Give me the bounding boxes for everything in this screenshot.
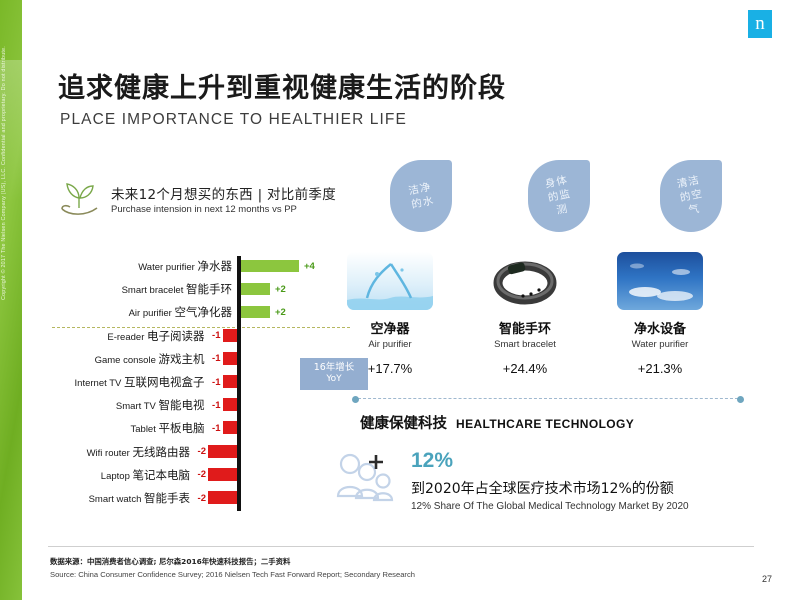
chart-bar-negative bbox=[223, 329, 238, 342]
chart-value-label: +2 bbox=[275, 307, 286, 318]
chart-value-label: +2 bbox=[275, 284, 286, 295]
chart-row-label: Smart watch 智能手表 bbox=[89, 490, 190, 506]
chart-row: Smart bracelet 智能手环+2 bbox=[50, 279, 350, 299]
divider-dot-right bbox=[737, 396, 744, 403]
smart-bracelet-graphic bbox=[482, 252, 568, 310]
copyright-notice: Copyright © 2017 The Nielsen Company (US… bbox=[1, 46, 7, 300]
product-card-water-purifier: 净水设备 Water purifier +21.3% bbox=[590, 252, 730, 376]
divider-dot-left bbox=[352, 396, 359, 403]
water-splash-image bbox=[347, 252, 433, 310]
chart-row: Laptop 笔记本电脑-2 bbox=[50, 465, 350, 485]
product-growth-pct: +21.3% bbox=[590, 361, 730, 376]
chart-row-label: Internet TV 互联网电视盒子 bbox=[75, 374, 205, 390]
product-card-air-purifier: 空净器 Air purifier +17.7% bbox=[320, 252, 460, 376]
chart-row: Smart TV 智能电视-1 bbox=[50, 395, 350, 415]
drop-clean-water-label: 洁净的水 bbox=[407, 180, 435, 213]
product-name-cn: 智能手环 bbox=[455, 318, 595, 337]
healthcare-heading: 健康保健科技 HEALTHCARE TECHNOLOGY bbox=[360, 412, 634, 433]
chart-value-label: +4 bbox=[304, 261, 315, 272]
product-growth-pct: +24.4% bbox=[455, 361, 595, 376]
chart-row-label: Air purifier 空气净化器 bbox=[129, 304, 232, 320]
page-title-en: PLACE IMPORTANCE TO HEALTHIER LIFE bbox=[60, 111, 407, 129]
chart-header-en: Purchase intension in next 12 months vs … bbox=[111, 204, 336, 215]
chart-bar-negative bbox=[208, 491, 237, 504]
chart-row-label: Wifi router 无线路由器 bbox=[87, 444, 190, 460]
chart-value-label: -1 bbox=[212, 400, 220, 411]
chart-header-cn: 未来12个月想买的东西 | 对比前季度 bbox=[111, 183, 336, 203]
chart-value-label: -2 bbox=[198, 469, 206, 480]
chart-value-label: -1 bbox=[212, 353, 220, 364]
nielsen-logo: n bbox=[748, 10, 772, 38]
footer-rule bbox=[48, 546, 754, 547]
page-title-cn: 追求健康上升到重视健康生活的阶段 bbox=[58, 66, 506, 105]
chart-row: Tablet 平板电脑-1 bbox=[50, 418, 350, 438]
market-share-cn: 到2020年占全球医疗技术市场12%的份额 bbox=[411, 478, 689, 498]
chart-value-label: -1 bbox=[212, 377, 220, 388]
chart-row-label: Game console 游戏主机 bbox=[95, 351, 205, 367]
drop-clean-air: 清洁的空气 bbox=[660, 160, 722, 232]
chart-value-label: -1 bbox=[212, 423, 220, 434]
drop-clean-air-label: 清洁的空气 bbox=[675, 173, 706, 219]
chart-bar-negative bbox=[223, 421, 238, 434]
section-divider bbox=[352, 398, 744, 400]
chart-row-label: Laptop 笔记本电脑 bbox=[101, 467, 190, 483]
chart-row-label: Smart TV 智能电视 bbox=[116, 397, 205, 413]
product-name-en: Water purifier bbox=[590, 339, 730, 350]
product-name-cn: 净水设备 bbox=[590, 318, 730, 337]
chart-bar-positive bbox=[241, 283, 270, 295]
chart-value-label: -1 bbox=[212, 330, 220, 341]
chart-row: E-reader 电子阅读器-1 bbox=[50, 326, 350, 346]
market-share-value: 12% bbox=[411, 450, 689, 471]
plant-in-hand-icon bbox=[56, 178, 102, 220]
chart-row-label: Water purifier 净水器 bbox=[138, 258, 232, 274]
healthcare-heading-en: HEALTHCARE TECHNOLOGY bbox=[456, 417, 634, 431]
page-number: 27 bbox=[762, 574, 772, 584]
drop-clean-water: 洁净的水 bbox=[390, 160, 452, 232]
chart-row: Water purifier 净水器+4 bbox=[50, 256, 350, 276]
chart-row: Wifi router 无线路由器-2 bbox=[50, 442, 350, 462]
blue-sky-image bbox=[617, 252, 703, 310]
chart-row-label: Smart bracelet 智能手环 bbox=[122, 281, 232, 297]
chart-bar-negative bbox=[223, 398, 238, 411]
healthcare-heading-cn: 健康保健科技 bbox=[360, 412, 447, 433]
footer-source: 数据来源：中国消费者信心调查; 尼尔森2016年快速科技报告；二手资料 Sour… bbox=[50, 556, 415, 579]
market-share-en: 12% Share Of The Global Medical Technolo… bbox=[411, 501, 689, 512]
chart-bar-negative bbox=[208, 468, 237, 481]
product-card-smart-bracelet: 智能手环 Smart bracelet +24.4% bbox=[455, 252, 595, 376]
chart-bar-negative bbox=[223, 375, 238, 388]
drop-body-monitor: 身体的监测 bbox=[528, 160, 590, 232]
chart-row-label: E-reader 电子阅读器 bbox=[107, 328, 204, 344]
slide-root: Copyright © 2017 The Nielsen Company (US… bbox=[0, 0, 800, 600]
chart-bar-negative bbox=[223, 352, 238, 365]
chart-header: 未来12个月想买的东西 | 对比前季度 Purchase intension i… bbox=[56, 178, 336, 220]
chart-value-label: -2 bbox=[198, 446, 206, 457]
blue-sky-graphic bbox=[617, 252, 703, 310]
chart-bar-positive bbox=[241, 306, 270, 318]
smart-bracelet-image bbox=[482, 252, 568, 310]
product-name-en: Air purifier bbox=[320, 339, 460, 350]
footer-source-cn: 数据来源：中国消费者信心调查; 尼尔森2016年快速科技报告；二手资料 bbox=[50, 556, 415, 567]
chart-bar-positive bbox=[241, 260, 299, 272]
drop-body-monitor-label: 身体的监测 bbox=[543, 173, 574, 219]
product-growth-pct: +17.7% bbox=[320, 361, 460, 376]
chart-row-label: Tablet 平板电脑 bbox=[131, 420, 205, 436]
market-share-stat: 12% 到2020年占全球医疗技术市场12%的份额 12% Share Of T… bbox=[335, 450, 689, 512]
chart-value-label: -2 bbox=[198, 493, 206, 504]
water-splash-graphic bbox=[347, 252, 433, 310]
product-name-en: Smart bracelet bbox=[455, 339, 595, 350]
footer-source-en: Source: China Consumer Confidence Survey… bbox=[50, 570, 415, 579]
chart-row: Smart watch 智能手表-2 bbox=[50, 488, 350, 508]
product-name-cn: 空净器 bbox=[320, 318, 460, 337]
chart-row: Air purifier 空气净化器+2 bbox=[50, 302, 350, 322]
chart-bar-negative bbox=[208, 445, 237, 458]
people-plus-icon bbox=[335, 450, 397, 508]
